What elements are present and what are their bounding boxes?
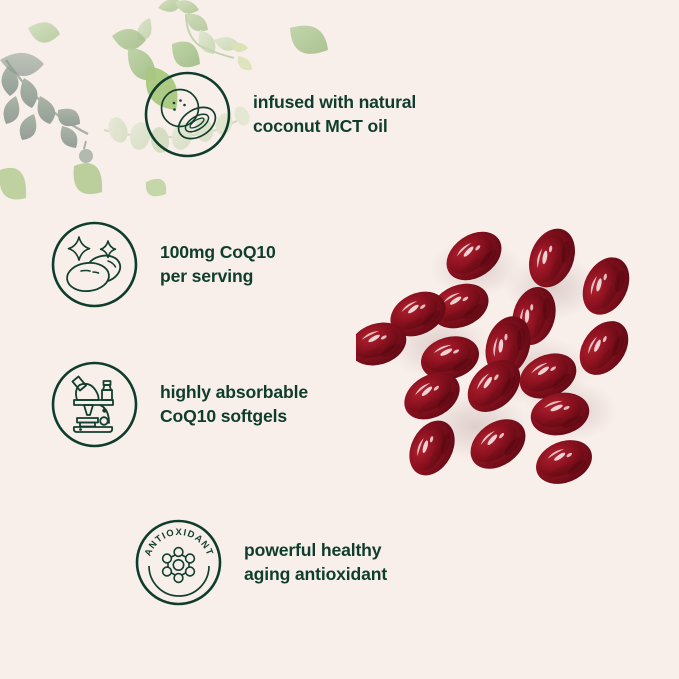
leaf bbox=[28, 22, 60, 42]
coconut-mct-icon bbox=[144, 71, 231, 158]
softgel-sparkle-icon bbox=[51, 221, 138, 308]
microscope-icon bbox=[51, 361, 138, 448]
leaf bbox=[0, 168, 26, 200]
benefit-row-absorbable: highly absorbable CoQ10 softgels bbox=[51, 361, 308, 448]
infographic-canvas: infused with natural coconut MCT oil 100… bbox=[0, 0, 679, 679]
benefit-label-dosage: 100mg CoQ10 per serving bbox=[160, 241, 276, 288]
leaf bbox=[112, 29, 146, 50]
benefit-label-antioxidant: powerful healthy aging antioxidant bbox=[244, 539, 387, 586]
benefit-row-dosage: 100mg CoQ10 per serving bbox=[51, 221, 276, 308]
leaf bbox=[172, 42, 200, 68]
benefit-label-coconut-mct: infused with natural coconut MCT oil bbox=[253, 91, 416, 138]
leaf bbox=[74, 163, 103, 194]
leaf bbox=[0, 53, 44, 76]
leaf-sprig-top bbox=[137, 0, 252, 70]
softgel bbox=[529, 432, 598, 492]
olive-branch bbox=[1, 60, 93, 163]
benefit-label-absorbable: highly absorbable CoQ10 softgels bbox=[160, 381, 308, 428]
coq10-softgel-cluster bbox=[356, 196, 654, 494]
benefit-row-antioxidant: ANTIOXIDANT powerful healthy aging antio… bbox=[135, 519, 387, 606]
benefit-row-coconut-mct: infused with natural coconut MCT oil bbox=[144, 71, 416, 158]
leaf bbox=[146, 179, 166, 196]
leaf bbox=[290, 26, 328, 54]
antioxidant-badge-icon: ANTIOXIDANT bbox=[135, 519, 222, 606]
